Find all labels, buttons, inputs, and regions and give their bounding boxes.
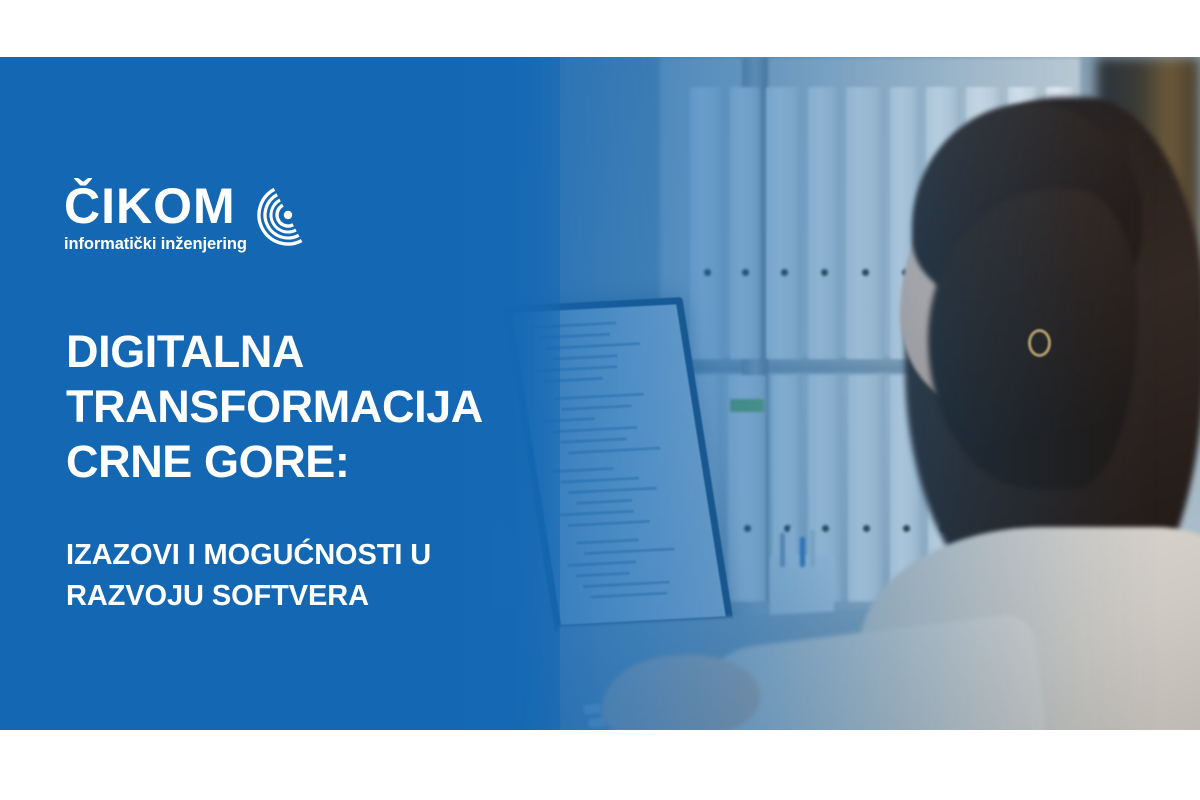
photo-key (583, 704, 601, 714)
concentric-c-rings-icon (257, 184, 319, 251)
brand-name: ČIKOM (64, 182, 247, 231)
photo-code-line (561, 404, 632, 411)
photo-code-line (576, 499, 633, 505)
brand-logo-text: ČIKOM informatički inženjering (64, 182, 247, 254)
photo-code-line (552, 426, 637, 433)
photo-code-line (553, 393, 644, 401)
photo-binder (766, 87, 802, 359)
photo-code-line (583, 581, 670, 588)
photo-code-line (575, 572, 630, 578)
subheadline: IZAZOVI I MOGUĆNOSTI U RAZVOJU SOFTVERA (66, 535, 536, 617)
photo-code-line (553, 467, 614, 473)
headline-line: TRANSFORMACIJA (66, 380, 536, 435)
headline-line: CRNE GORE: (66, 435, 536, 490)
photo-code-line (584, 547, 675, 555)
headline: DIGITALNA TRANSFORMACIJA CRNE GORE: (66, 325, 536, 490)
photo-binder (846, 87, 884, 359)
subheadline-line: IZAZOVI I MOGUĆNOSTI U (66, 535, 536, 576)
photo-binder (848, 375, 884, 603)
photo-binder (730, 87, 760, 359)
brand-logo: ČIKOM informatički inženjering (64, 182, 319, 254)
photo-code-line (553, 354, 618, 360)
photo-code-line (591, 592, 668, 599)
photo-binder (808, 87, 840, 359)
photo-code-line (568, 447, 661, 455)
photo-code-line (576, 538, 639, 544)
photo-code-line (567, 520, 650, 527)
headline-line: DIGITALNA (66, 325, 536, 380)
brand-tagline: informatički inženjering (64, 235, 247, 254)
photo-code-line (568, 487, 657, 495)
photo-code-line (560, 510, 635, 517)
photo-binder (690, 87, 724, 359)
promo-banner: ČIKOM informatički inženjering DIGITALNA (0, 57, 1200, 730)
page-root: ČIKOM informatički inženjering DIGITALNA (0, 0, 1200, 800)
subheadline-line: RAZVOJU SOFTVERA (66, 576, 536, 617)
photo-code-line (560, 437, 627, 443)
photo-binder (728, 375, 766, 603)
photo-code-line (560, 477, 639, 484)
photo-person-earring (1028, 329, 1051, 357)
photo-code-line (568, 560, 637, 567)
